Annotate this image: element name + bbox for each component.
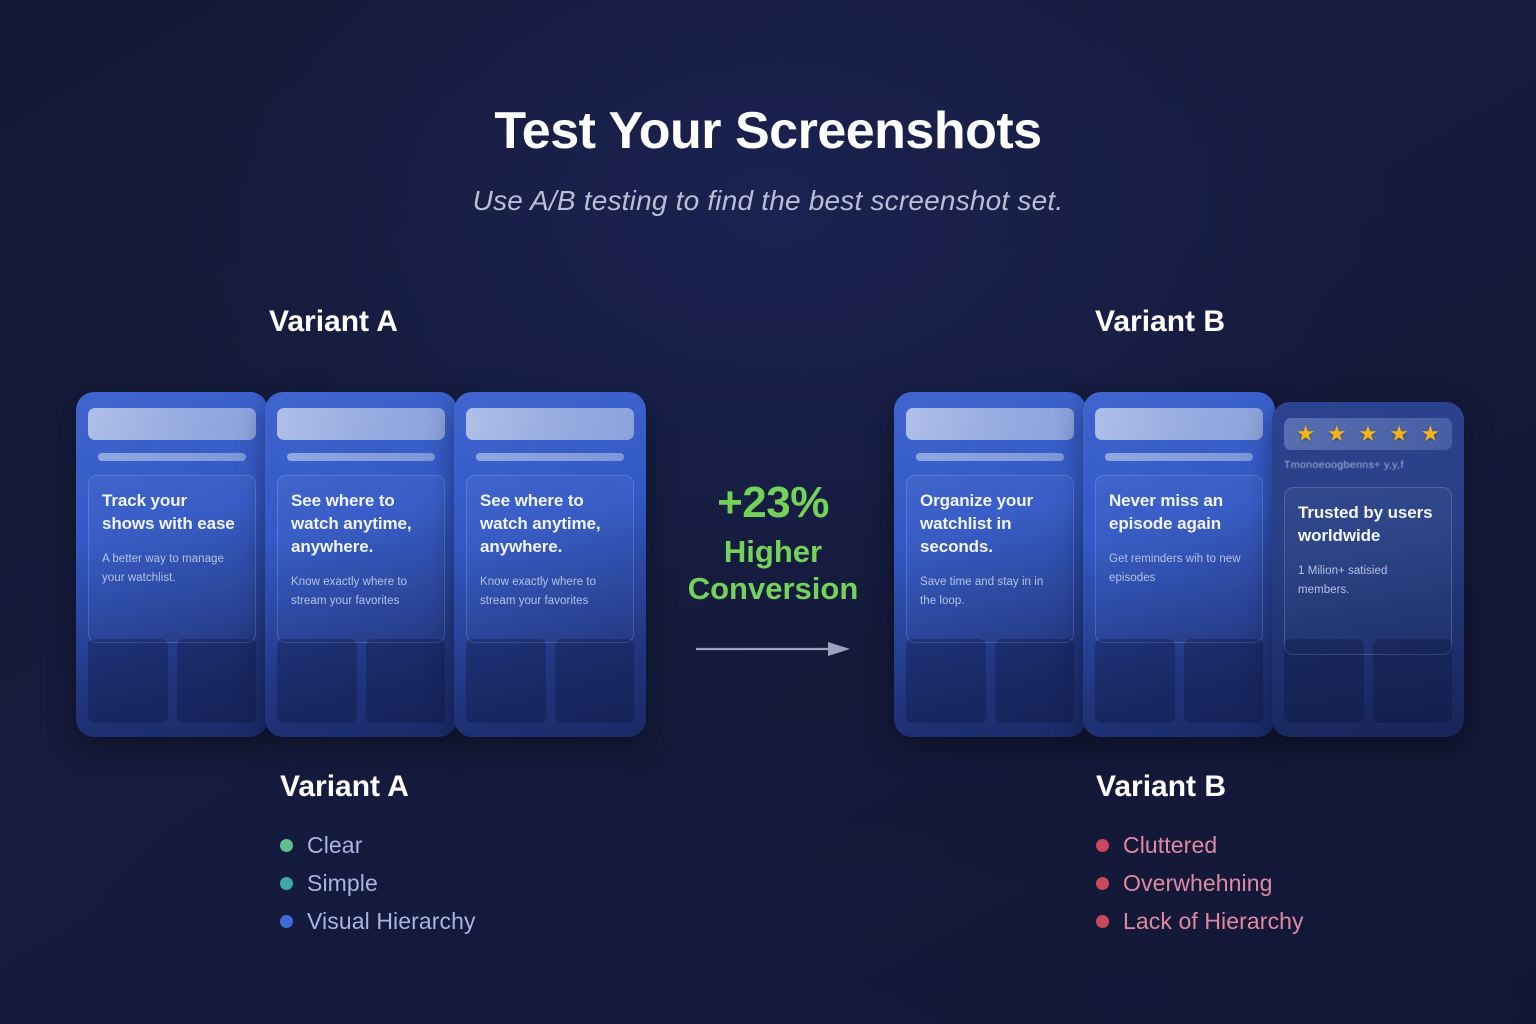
caption-subtitle: Know exactly where to stream your favori… <box>480 573 620 611</box>
summary-a-item-2: Visual Hierarchy <box>280 902 476 940</box>
conversion-label-line1: Higher <box>660 533 886 570</box>
header-placeholder-bar <box>466 408 634 440</box>
subheader-placeholder-bar <box>287 453 435 461</box>
summary-a-item-label: Simple <box>307 870 378 897</box>
star-icon: ★ <box>1296 423 1316 445</box>
summary-b-heading: Variant B <box>1096 770 1304 804</box>
placeholder-block <box>177 639 257 723</box>
header-placeholder-bar <box>277 408 445 440</box>
page-title: Test Your Screenshots <box>0 104 1536 159</box>
screenshot-card-b2[interactable]: Never miss an episode again Get reminder… <box>1083 392 1275 737</box>
caption-title: Trusted by users worldwide <box>1298 502 1438 548</box>
placeholder-block <box>366 639 446 723</box>
variant-a-screenshot-strip: Track your shows with ease A better way … <box>76 392 646 737</box>
bullet-dot-icon <box>280 839 293 852</box>
summary-b-item-label: Cluttered <box>1123 832 1217 859</box>
subheader-placeholder-bar <box>476 453 624 461</box>
page-subtitle: Use A/B testing to find the best screens… <box>0 185 1536 217</box>
star-icon: ★ <box>1420 423 1440 445</box>
placeholder-block <box>906 639 986 723</box>
placeholder-block <box>555 639 635 723</box>
content-placeholder-blocks <box>277 639 445 723</box>
placeholder-block <box>995 639 1075 723</box>
content-placeholder-blocks <box>1095 639 1263 723</box>
caption-panel: Trusted by users worldwide 1 Milion+ sat… <box>1284 487 1452 655</box>
bullet-dot-icon <box>280 915 293 928</box>
placeholder-block <box>88 639 168 723</box>
placeholder-block <box>1284 639 1364 723</box>
header-placeholder-bar <box>1095 408 1263 440</box>
rating-caption: Tmonoeoogbenns+ y,y,f <box>1284 459 1452 473</box>
star-icon: ★ <box>1358 423 1378 445</box>
star-icon: ★ <box>1327 423 1347 445</box>
summary-a-heading: Variant A <box>280 770 476 804</box>
caption-subtitle: Know exactly where to stream your favori… <box>291 573 431 611</box>
subheader-placeholder-bar <box>98 453 246 461</box>
caption-panel: Track your shows with ease A better way … <box>88 475 256 643</box>
caption-title: See where to watch anytime, anywhere. <box>291 490 431 559</box>
caption-subtitle: A better way to manage your watchlist. <box>102 550 242 588</box>
caption-title: Track your shows with ease <box>102 490 242 536</box>
header-placeholder-bar <box>88 408 256 440</box>
bullet-dot-icon <box>1096 915 1109 928</box>
caption-title: Organize your watchlist in seconds. <box>920 490 1060 559</box>
screenshot-card-a3[interactable]: See where to watch anytime, anywhere. Kn… <box>454 392 646 737</box>
summary-a-item-label: Visual Hierarchy <box>307 908 476 935</box>
caption-panel: Organize your watchlist in seconds. Save… <box>906 475 1074 643</box>
conversion-percent: +23% <box>660 480 886 527</box>
content-placeholder-blocks <box>88 639 256 723</box>
star-rating: ★ ★ ★ ★ ★ <box>1284 418 1452 450</box>
screenshot-card-a1[interactable]: Track your shows with ease A better way … <box>76 392 268 737</box>
screenshot-card-b1[interactable]: Organize your watchlist in seconds. Save… <box>894 392 1086 737</box>
screenshot-card-b3[interactable]: ★ ★ ★ ★ ★ Tmonoeoogbenns+ y,y,f Trusted … <box>1272 402 1464 737</box>
conversion-label-line2: Conversion <box>660 570 886 607</box>
caption-panel: See where to watch anytime, anywhere. Kn… <box>277 475 445 643</box>
content-placeholder-blocks <box>466 639 634 723</box>
conversion-callout: +23% Higher Conversion <box>660 480 886 657</box>
variant-a-heading: Variant A <box>269 305 398 339</box>
summary-variant-b: Variant B Cluttered Overwhehning Lack of… <box>1096 770 1304 940</box>
subheader-placeholder-bar <box>1105 453 1253 461</box>
placeholder-block <box>1373 639 1453 723</box>
summary-b-item-1: Overwhehning <box>1096 864 1304 902</box>
summary-variant-a: Variant A Clear Simple Visual Hierarchy <box>280 770 476 940</box>
variant-b-heading: Variant B <box>1095 305 1225 339</box>
header-placeholder-bar <box>906 408 1074 440</box>
variant-b-screenshot-strip: Organize your watchlist in seconds. Save… <box>894 392 1464 737</box>
placeholder-block <box>466 639 546 723</box>
bullet-dot-icon <box>1096 877 1109 890</box>
summary-a-item-0: Clear <box>280 826 476 864</box>
summary-b-item-label: Overwhehning <box>1123 870 1273 897</box>
screenshot-card-a2[interactable]: See where to watch anytime, anywhere. Kn… <box>265 392 457 737</box>
caption-title: Never miss an episode again <box>1109 490 1249 536</box>
arrow-right-icon <box>660 641 886 657</box>
caption-subtitle: 1 Milion+ satisied members. <box>1298 562 1438 600</box>
summary-a-item-1: Simple <box>280 864 476 902</box>
subheader-placeholder-bar <box>916 453 1064 461</box>
caption-subtitle: Get reminders wih to new episodes <box>1109 550 1249 588</box>
summary-b-item-label: Lack of Hierarchy <box>1123 908 1304 935</box>
caption-title: See where to watch anytime, anywhere. <box>480 490 620 559</box>
bullet-dot-icon <box>280 877 293 890</box>
page-header: Test Your Screenshots Use A/B testing to… <box>0 0 1536 217</box>
caption-panel: Never miss an episode again Get reminder… <box>1095 475 1263 643</box>
content-placeholder-blocks <box>906 639 1074 723</box>
placeholder-block <box>277 639 357 723</box>
content-placeholder-blocks <box>1284 639 1452 723</box>
star-icon: ★ <box>1389 423 1409 445</box>
caption-panel: See where to watch anytime, anywhere. Kn… <box>466 475 634 643</box>
placeholder-block <box>1184 639 1264 723</box>
summary-b-item-2: Lack of Hierarchy <box>1096 902 1304 940</box>
bullet-dot-icon <box>1096 839 1109 852</box>
placeholder-block <box>1095 639 1175 723</box>
summary-a-item-label: Clear <box>307 832 362 859</box>
caption-subtitle: Save time and stay in in the loop. <box>920 573 1060 611</box>
variant-heading-row: Variant A Variant B <box>0 305 1536 355</box>
summary-b-item-0: Cluttered <box>1096 826 1304 864</box>
